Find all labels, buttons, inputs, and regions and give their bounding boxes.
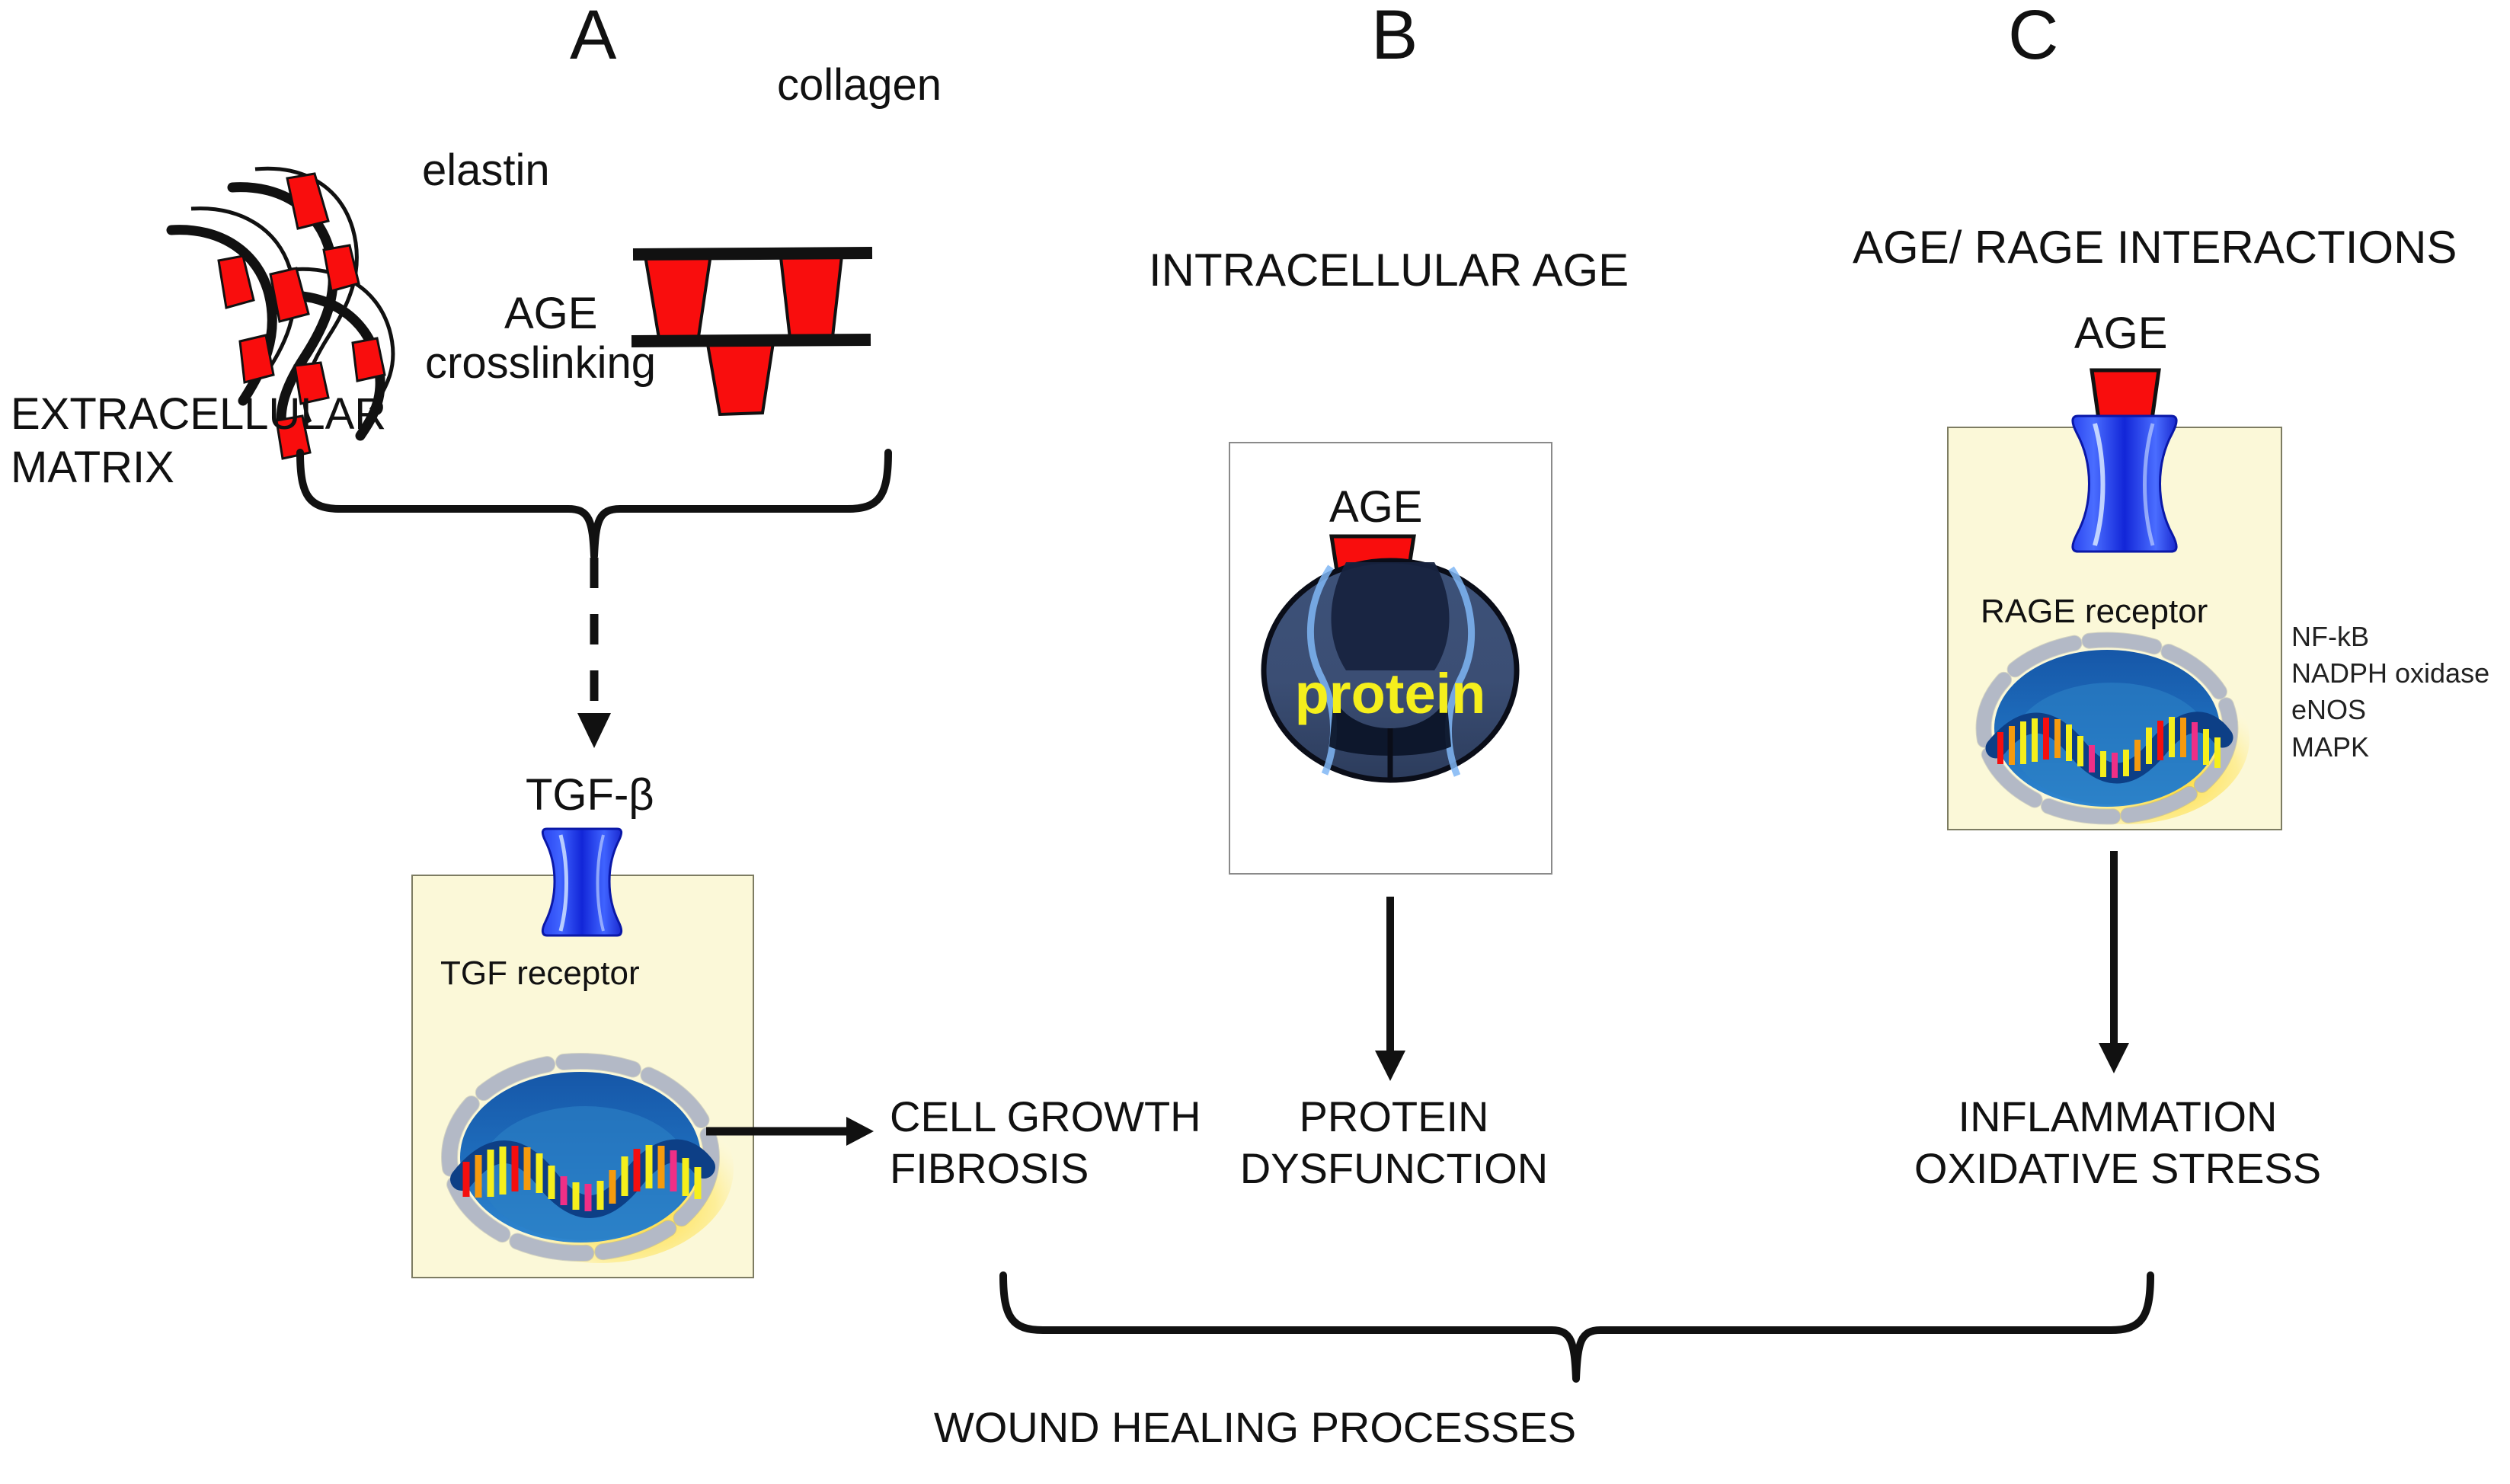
collagen-crosslink-diagram — [628, 244, 887, 419]
signaling-molecule-nfkb: NF-kB — [2291, 619, 2489, 655]
rage-receptor-label: RAGE receptor — [1981, 593, 2208, 631]
panel-b-outcome-line2: DYSFUNCTION — [1234, 1143, 1554, 1195]
panel-a-outcome-line1: CELL GROWTH — [890, 1091, 1201, 1143]
panel-a-outcome: CELL GROWTH FIBROSIS — [890, 1091, 1201, 1195]
tgf-beta-label: TGF-β — [526, 769, 654, 820]
panel-b-protein-text: protein — [1295, 662, 1486, 725]
panel-letter-b: B — [1371, 0, 1418, 75]
ecm-brace-and-dashed-arrow — [282, 442, 906, 762]
age-crosslinking-label-line2: crosslinking — [425, 337, 656, 389]
panel-c-outcome-line1: INFLAMMATION — [1882, 1091, 2354, 1143]
panel-b-protein-icon: protein — [1261, 556, 1520, 785]
signaling-molecule-enos: eNOS — [2291, 692, 2489, 728]
tgf-receptor-icon — [538, 824, 626, 940]
panel-c-signaling-list: NF-kB NADPH oxidase eNOS MAPK — [2291, 619, 2489, 766]
elastin-label: elastin — [422, 145, 550, 196]
signaling-molecule-mapk: MAPK — [2291, 729, 2489, 766]
panel-a-outcome-arrow — [705, 1108, 880, 1154]
panel-c-nucleus — [1970, 632, 2252, 823]
panel-a-outcome-line2: FIBROSIS — [890, 1143, 1201, 1195]
footer-label: WOUND HEALING PROCESSES — [0, 1402, 2510, 1454]
panel-b-arrow — [1364, 895, 1417, 1086]
panel-c-heading: AGE/ RAGE INTERACTIONS — [1853, 221, 2457, 273]
age-crosslinking-label-line1: AGE — [504, 288, 598, 339]
wound-healing-brace — [986, 1266, 2175, 1418]
signaling-molecule-nadph-oxidase: NADPH oxidase — [2291, 655, 2489, 692]
tgf-receptor-label: TGF receptor — [440, 955, 640, 993]
panel-c-arrow — [2087, 849, 2141, 1078]
panel-c-age-label: AGE — [2074, 308, 2168, 359]
panel-b-outcome: PROTEIN DYSFUNCTION — [1234, 1091, 1554, 1195]
extracellular-matrix-label-line2: MATRIX — [11, 442, 174, 493]
panel-b-age-label: AGE — [1329, 481, 1423, 533]
panel-a-nucleus — [436, 1053, 734, 1262]
panel-c-outcome-line2: OXIDATIVE STRESS — [1882, 1143, 2354, 1195]
collagen-label: collagen — [777, 59, 942, 110]
panel-b-heading: INTRACELLULAR AGE — [1149, 244, 1629, 296]
panel-c-outcome: INFLAMMATION OXIDATIVE STRESS — [1882, 1091, 2354, 1195]
panel-letter-c: C — [2008, 0, 2058, 75]
panel-b-outcome-line1: PROTEIN — [1234, 1091, 1554, 1143]
extracellular-matrix-label-line1: EXTRACELLULAR — [11, 389, 386, 440]
rage-receptor-icon — [2067, 411, 2182, 556]
panel-letter-a: A — [570, 0, 616, 75]
